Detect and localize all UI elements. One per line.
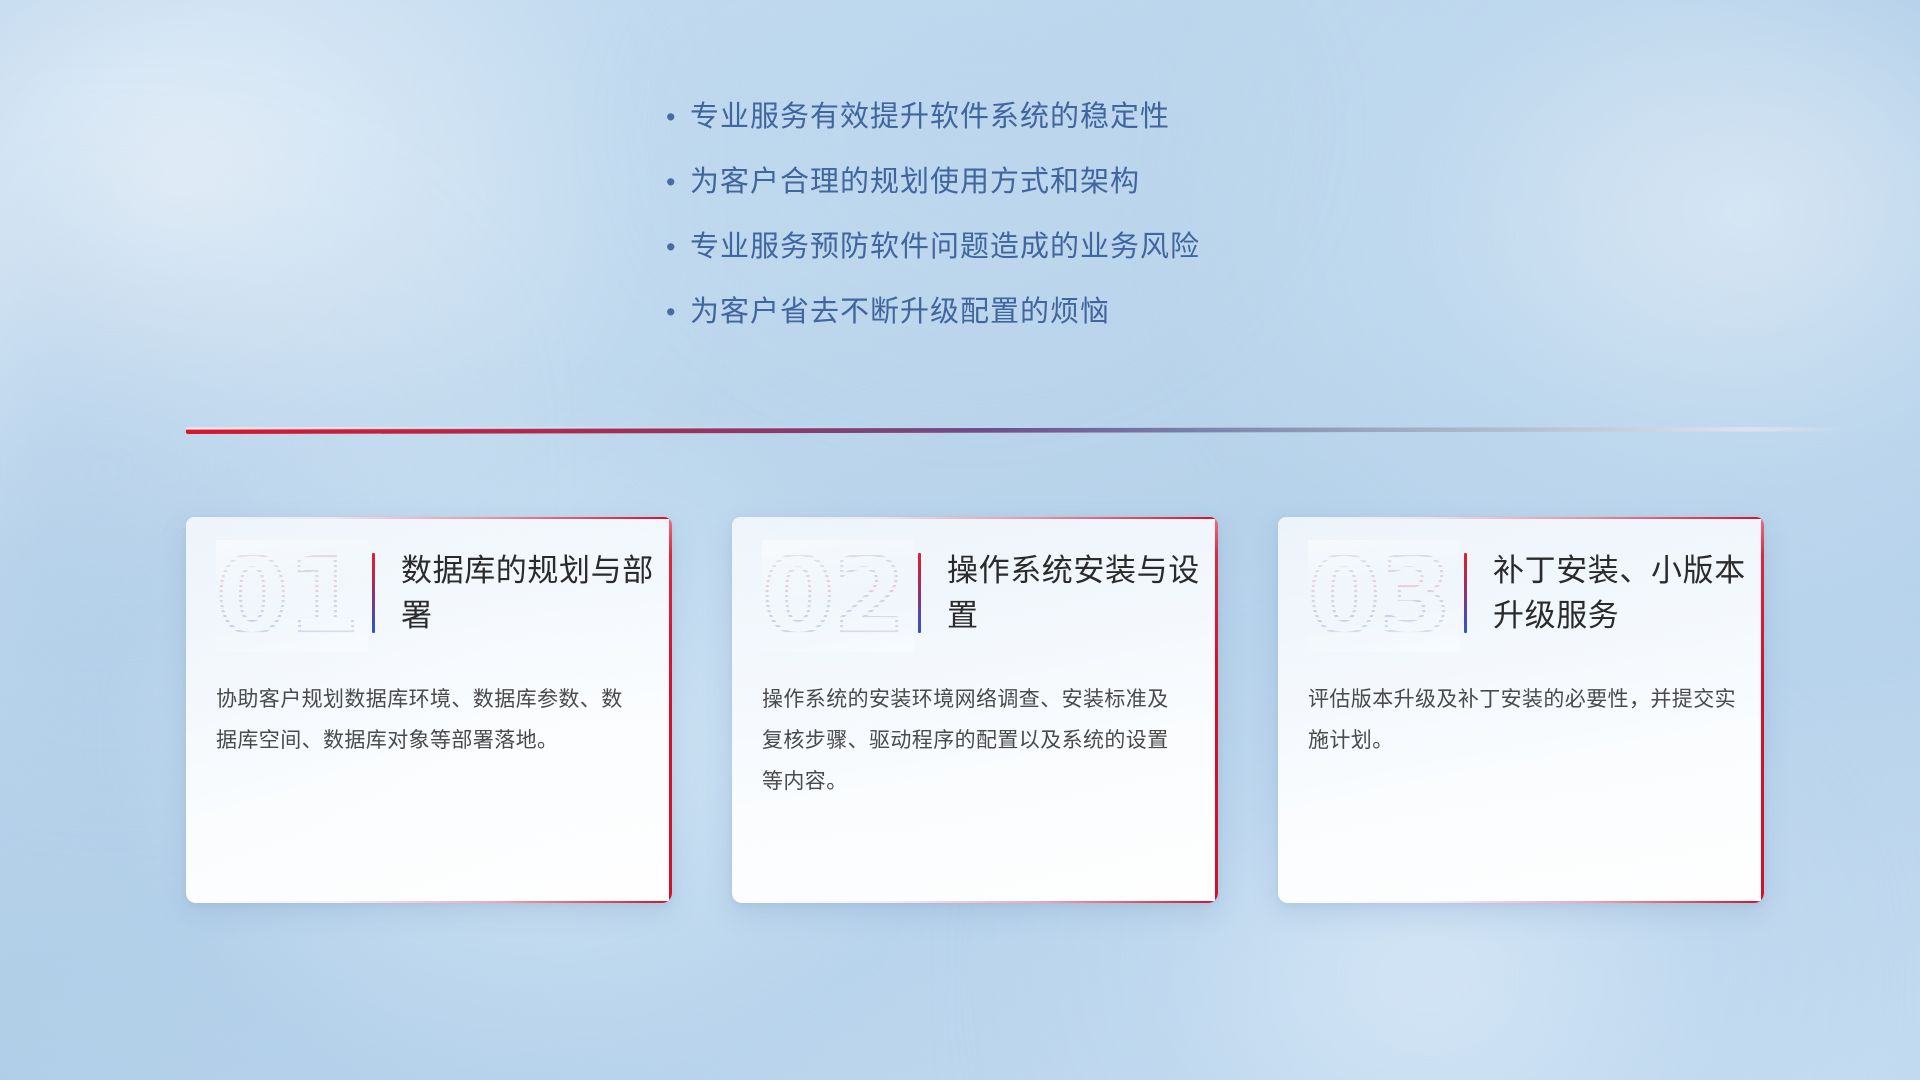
benefits-bullet-list: • 专业服务有效提升软件系统的稳定性 • 为客户合理的规划使用方式和架构 • 专… bbox=[660, 96, 1560, 356]
bullet-item: • 专业服务有效提升软件系统的稳定性 bbox=[660, 96, 1560, 138]
bullet-item: • 为客户省去不断升级配置的烦恼 bbox=[660, 291, 1560, 333]
card-accent-border-bottom bbox=[1288, 901, 1764, 903]
card-description: 评估版本升级及补丁安装的必要性，并提交实施计划。 bbox=[1278, 669, 1764, 761]
card-title-accent-bar bbox=[1464, 553, 1467, 633]
card-title: 数据库的规划与部署 bbox=[401, 548, 672, 638]
service-card-group: 01 数据库的规划与部署 协助客户规划数据库环境、数据库参数、数据库空间、数据库… bbox=[186, 517, 1764, 903]
card-title: 补丁安装、小版本升级服务 bbox=[1493, 548, 1764, 638]
bullet-marker-icon: • bbox=[660, 161, 690, 203]
card-title: 操作系统安装与设置 bbox=[947, 548, 1218, 638]
bullet-marker-icon: • bbox=[660, 226, 690, 268]
bullet-marker-icon: • bbox=[660, 291, 690, 333]
card-number-watermark: 03 bbox=[1308, 540, 1460, 652]
card-number-fade bbox=[1308, 540, 1460, 652]
bullet-item-label: 为客户省去不断升级配置的烦恼 bbox=[690, 291, 1110, 333]
card-number-watermark: 01 bbox=[216, 540, 368, 652]
bullet-item-label: 专业服务预防软件问题造成的业务风险 bbox=[690, 226, 1200, 268]
service-card[interactable]: 01 数据库的规划与部署 协助客户规划数据库环境、数据库参数、数据库空间、数据库… bbox=[186, 517, 672, 903]
card-title-accent-bar bbox=[372, 553, 375, 633]
bullet-item-label: 专业服务有效提升软件系统的稳定性 bbox=[690, 96, 1170, 138]
section-divider bbox=[186, 424, 1846, 438]
card-accent-border-bottom bbox=[196, 901, 672, 903]
card-description: 协助客户规划数据库环境、数据库参数、数据库空间、数据库对象等部署落地。 bbox=[186, 669, 672, 761]
card-header: 01 数据库的规划与部署 bbox=[186, 517, 672, 669]
card-header: 02 操作系统安装与设置 bbox=[732, 517, 1218, 669]
bullet-marker-icon: • bbox=[660, 96, 690, 138]
card-number-fade bbox=[762, 540, 914, 652]
bullet-item: • 为客户合理的规划使用方式和架构 bbox=[660, 161, 1560, 203]
service-card[interactable]: 03 补丁安装、小版本升级服务 评估版本升级及补丁安装的必要性，并提交实施计划。 bbox=[1278, 517, 1764, 903]
slide-root: • 专业服务有效提升软件系统的稳定性 • 为客户合理的规划使用方式和架构 • 专… bbox=[0, 0, 1920, 1080]
card-title-accent-bar bbox=[918, 553, 921, 633]
bullet-item-label: 为客户合理的规划使用方式和架构 bbox=[690, 161, 1140, 203]
card-accent-border-bottom bbox=[742, 901, 1218, 903]
card-number-fade bbox=[216, 540, 368, 652]
card-header: 03 补丁安装、小版本升级服务 bbox=[1278, 517, 1764, 669]
service-card[interactable]: 02 操作系统安装与设置 操作系统的安装环境网络调查、安装标准及复核步骤、驱动程… bbox=[732, 517, 1218, 903]
card-number-watermark: 02 bbox=[762, 540, 914, 652]
bullet-item: • 专业服务预防软件问题造成的业务风险 bbox=[660, 226, 1560, 268]
card-description: 操作系统的安装环境网络调查、安装标准及复核步骤、驱动程序的配置以及系统的设置等内… bbox=[732, 669, 1218, 802]
